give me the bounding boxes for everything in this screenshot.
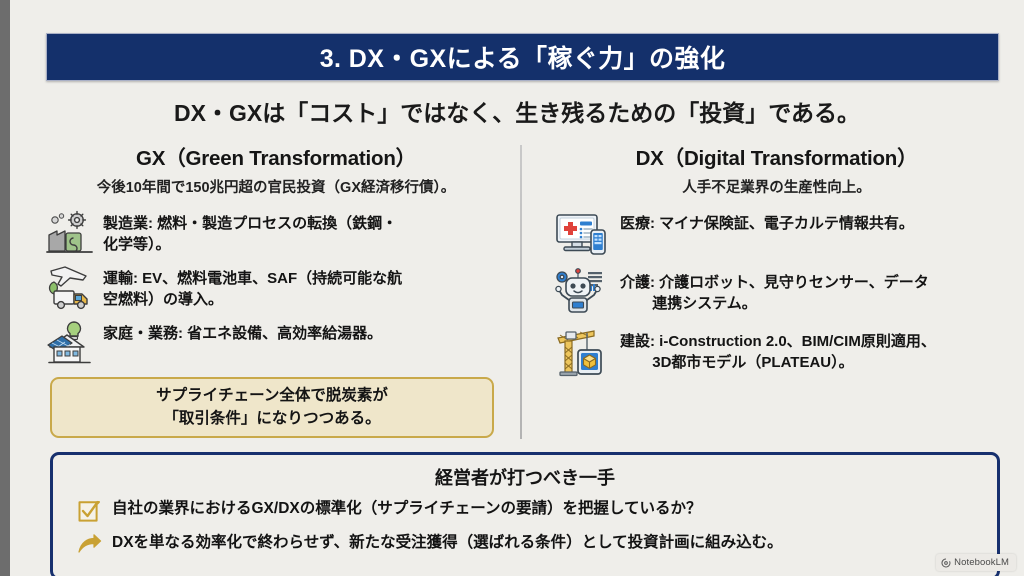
gx-callout-box: サプライチェーン全体で脱炭素が 「取引条件」になりつつある。 (50, 377, 494, 438)
list-item: 介護: 介護ロボット、見守りセンサー、データ 連携システム。 (554, 268, 999, 320)
column-dx-heading: DX（Digital Transformation） (554, 141, 999, 171)
column-dx-subheading: 人手不足業界の生産性向上。 (554, 176, 999, 197)
truck-plane-leaf-icon (46, 264, 94, 312)
curved-arrow-icon (77, 533, 102, 558)
list-item-text: 家庭・業務: 省エネ設備、高効率給湯器。 (103, 319, 382, 344)
gx-callout-line1: サプライチェーン全体で脱炭素が (156, 385, 388, 407)
list-item-text: 介護: 介護ロボット、見守りセンサー、データ 連携システム。 (620, 268, 929, 315)
column-dx-bullets: 医療: マイナ保険証、電子カルテ情報共有。 (554, 209, 999, 379)
care-robot-icon (554, 268, 608, 320)
action-item-text: DXを単なる効率化で終わらせず、新たな受注獲得（選ばれる条件）として投資計画に組… (112, 533, 783, 553)
list-item-text: 運輸: EV、燃料電池車、SAF（持続可能な航 空燃料）の導入。 (103, 264, 402, 311)
slide-title-bar: 3. DX・GXによる「稼ぐ力」の強化 (46, 33, 999, 81)
factory-gear-icon (46, 209, 94, 257)
list-item: 家庭・業務: 省エネ設備、高効率給湯器。 (46, 319, 506, 367)
list-item-line1: 医療: マイナ保険証、電子カルテ情報共有。 (620, 213, 914, 234)
action-item: 自社の業界におけるGX/DXの標準化（サプライチェーンの要請）を把握しているか？ (77, 499, 997, 524)
slide-subtitle: DX・GXは「コスト」ではなく、生き残るための「投資」である。 (10, 94, 1024, 128)
list-item-line1: 製造業: 燃料・製造プロセスの転換（鉄鋼・ (103, 213, 397, 234)
action-box-title: 経営者が打つべき一手 (53, 464, 997, 490)
gx-callout-line2: 「取引条件」になりつつある。 (163, 408, 380, 430)
action-item-text: 自社の業界におけるGX/DXの標準化（サプライチェーンの要請）を把握しているか？ (112, 499, 702, 519)
solar-house-bulb-icon (46, 319, 94, 367)
checkbox-checked-icon (77, 499, 102, 524)
list-item-line2: 3D都市モデル（PLATEAU）。 (620, 352, 936, 373)
list-item: 運輸: EV、燃料電池車、SAF（持続可能な航 空燃料）の導入。 (46, 264, 506, 312)
list-item-line2: 連携システム。 (620, 293, 929, 314)
list-item-text: 建設: i-Construction 2.0、BIM/CIM原則適用、 3D都市… (620, 327, 936, 374)
list-item-line2: 空燃料）の導入。 (103, 289, 402, 310)
column-gx-bullets: 製造業: 燃料・製造プロセスの転換（鉄鋼・ 化学等）。 (46, 209, 506, 367)
column-gx-subheading: 今後10年間で150兆円超の官民投資（GX経済移行債）。 (46, 176, 506, 197)
list-item-text: 製造業: 燃料・製造プロセスの転換（鉄鋼・ 化学等）。 (103, 209, 397, 256)
notebooklm-watermark: NotebookLM (936, 554, 1016, 571)
notebooklm-label: NotebookLM (954, 557, 1009, 568)
list-item-line1: 建設: i-Construction 2.0、BIM/CIM原則適用、 (620, 331, 936, 352)
column-gx-heading: GX（Green Transformation） (46, 141, 506, 171)
list-item-line1: 家庭・業務: 省エネ設備、高効率給湯器。 (103, 323, 382, 344)
list-item-text: 医療: マイナ保険証、電子カルテ情報共有。 (620, 209, 914, 234)
notebooklm-icon (941, 558, 951, 568)
list-item-line1: 介護: 介護ロボット、見守りセンサー、データ (620, 272, 929, 293)
list-item: 製造業: 燃料・製造プロセスの転換（鉄鋼・ 化学等）。 (46, 209, 506, 257)
list-item-line2: 化学等）。 (103, 234, 397, 255)
list-item: 医療: マイナ保険証、電子カルテ情報共有。 (554, 209, 999, 261)
construction-crane-icon (554, 327, 608, 379)
slide-canvas: 3. DX・GXによる「稼ぐ力」の強化 DX・GXは「コスト」ではなく、生き残る… (10, 0, 1024, 576)
medical-monitor-icon (554, 209, 608, 261)
page-title: 3. DX・GXによる「稼ぐ力」の強化 (320, 39, 726, 75)
action-item: DXを単なる効率化で終わらせず、新たな受注獲得（選ばれる条件）として投資計画に組… (77, 533, 997, 558)
list-item: 建設: i-Construction 2.0、BIM/CIM原則適用、 3D都市… (554, 327, 999, 379)
action-box: 経営者が打つべき一手 自社の業界におけるGX/DXの標準化（サプライチェーンの要… (50, 452, 1000, 576)
list-item-line1: 運輸: EV、燃料電池車、SAF（持続可能な航 (103, 268, 402, 289)
column-dx: DX（Digital Transformation） 人手不足業界の生産性向上。 (522, 141, 999, 441)
